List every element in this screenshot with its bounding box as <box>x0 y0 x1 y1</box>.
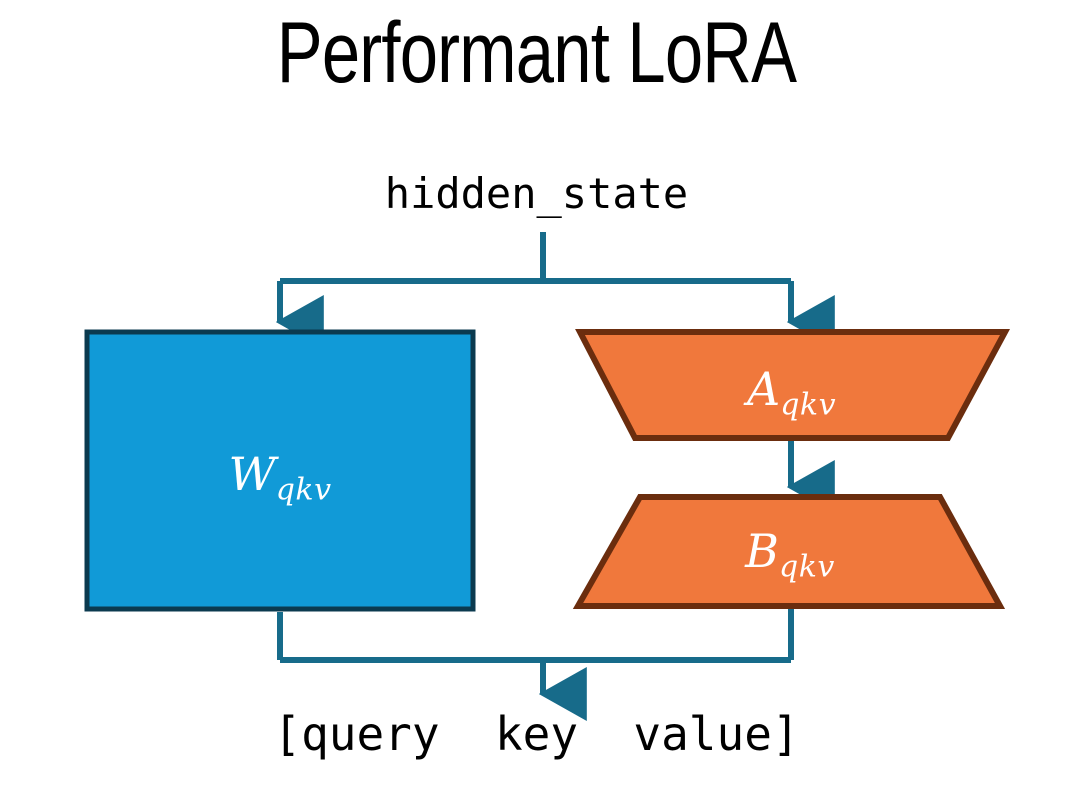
block-b-qkv[interactable] <box>578 497 1000 606</box>
block-w-qkv[interactable] <box>87 332 473 609</box>
output-label: [query key value] <box>0 707 1073 761</box>
lora-diagram <box>0 0 1073 793</box>
slide-canvas: Performant LoRA hidden_state <box>0 0 1073 793</box>
block-a-qkv[interactable] <box>580 332 1005 438</box>
